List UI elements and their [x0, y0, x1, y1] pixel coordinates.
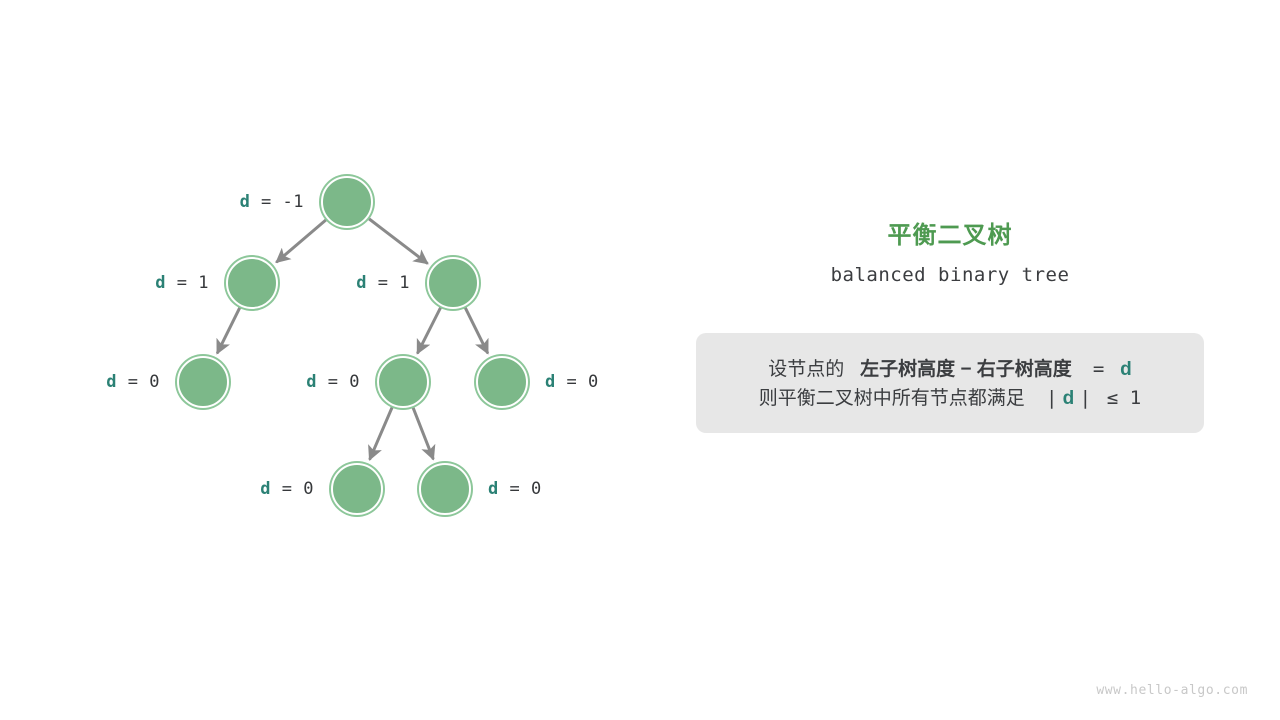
tree-edge	[418, 308, 441, 353]
node-balance-label: d = -1	[174, 191, 304, 213]
node-label-variable: d	[306, 372, 317, 392]
formula-prefix-2: 则平衡二叉树中所有节点都满足	[759, 388, 1025, 409]
node-balance-label: d = 0	[488, 478, 618, 500]
tree-edge	[277, 220, 326, 261]
binary-tree-diagram: d = -1d = 1d = 1d = 0d = 0d = 0d = 0d = …	[0, 0, 700, 720]
node-balance-label: d = 1	[79, 272, 209, 294]
tree-edge	[370, 408, 392, 459]
tree-node[interactable]	[476, 356, 528, 408]
tree-node[interactable]	[427, 257, 479, 309]
node-label-value: = 0	[499, 479, 542, 499]
diagram-canvas: d = -1d = 1d = 1d = 0d = 0d = 0d = 0d = …	[0, 0, 1280, 720]
node-label-value: = 1	[367, 273, 410, 293]
node-label-value: = 0	[317, 372, 360, 392]
node-label-variable: d	[545, 372, 556, 392]
node-label-value: = 1	[166, 273, 209, 293]
abs-bar-open: |	[1046, 387, 1057, 409]
node-balance-label: d = 0	[30, 371, 160, 393]
formula-line-2: 则平衡二叉树中所有节点都满足 | d | ≤ 1	[696, 384, 1204, 413]
node-balance-label: d = 0	[184, 478, 314, 500]
node-label-variable: d	[106, 372, 117, 392]
tree-edge	[413, 408, 433, 458]
node-label-variable: d	[356, 273, 367, 293]
node-label-value: = 0	[117, 372, 160, 392]
tree-edge	[218, 308, 240, 352]
tree-node[interactable]	[177, 356, 229, 408]
abs-bar-close: |	[1080, 387, 1091, 409]
page-title: 平衡二叉树	[696, 220, 1204, 252]
node-balance-label: d = 0	[230, 371, 360, 393]
tree-node[interactable]	[331, 463, 383, 515]
tree-node[interactable]	[226, 257, 278, 309]
page-subtitle: balanced binary tree	[696, 264, 1204, 286]
formula-variable-d-abs: d	[1063, 388, 1075, 409]
info-panel: 平衡二叉树 balanced binary tree 设节点的 左子树高度 − …	[696, 220, 1204, 433]
formula-box: 设节点的 左子树高度 − 右子树高度 = d 则平衡二叉树中所有节点都满足 | …	[696, 333, 1204, 433]
node-label-value: = 0	[271, 479, 314, 499]
formula-bold-expression: 左子树高度 − 右子树高度	[860, 359, 1072, 380]
formula-equals: =	[1093, 358, 1104, 380]
node-balance-label: d = 0	[545, 371, 675, 393]
node-label-value: = -1	[250, 192, 304, 212]
tree-edge	[465, 308, 487, 352]
formula-line-1: 设节点的 左子树高度 − 右子树高度 = d	[696, 355, 1204, 384]
tree-node[interactable]	[377, 356, 429, 408]
formula-prefix-1: 设节点的	[768, 359, 844, 380]
node-balance-label: d = 1	[280, 272, 410, 294]
node-label-variable: d	[240, 192, 251, 212]
tree-edge	[369, 219, 427, 263]
formula-relation: ≤ 1	[1107, 387, 1141, 409]
node-label-variable: d	[488, 479, 499, 499]
tree-edges	[0, 0, 700, 720]
tree-node[interactable]	[321, 176, 373, 228]
node-label-value: = 0	[556, 372, 599, 392]
node-label-variable: d	[260, 479, 271, 499]
formula-variable-d: d	[1120, 359, 1132, 380]
node-label-variable: d	[155, 273, 166, 293]
tree-node[interactable]	[419, 463, 471, 515]
watermark: www.hello-algo.com	[1096, 683, 1248, 698]
